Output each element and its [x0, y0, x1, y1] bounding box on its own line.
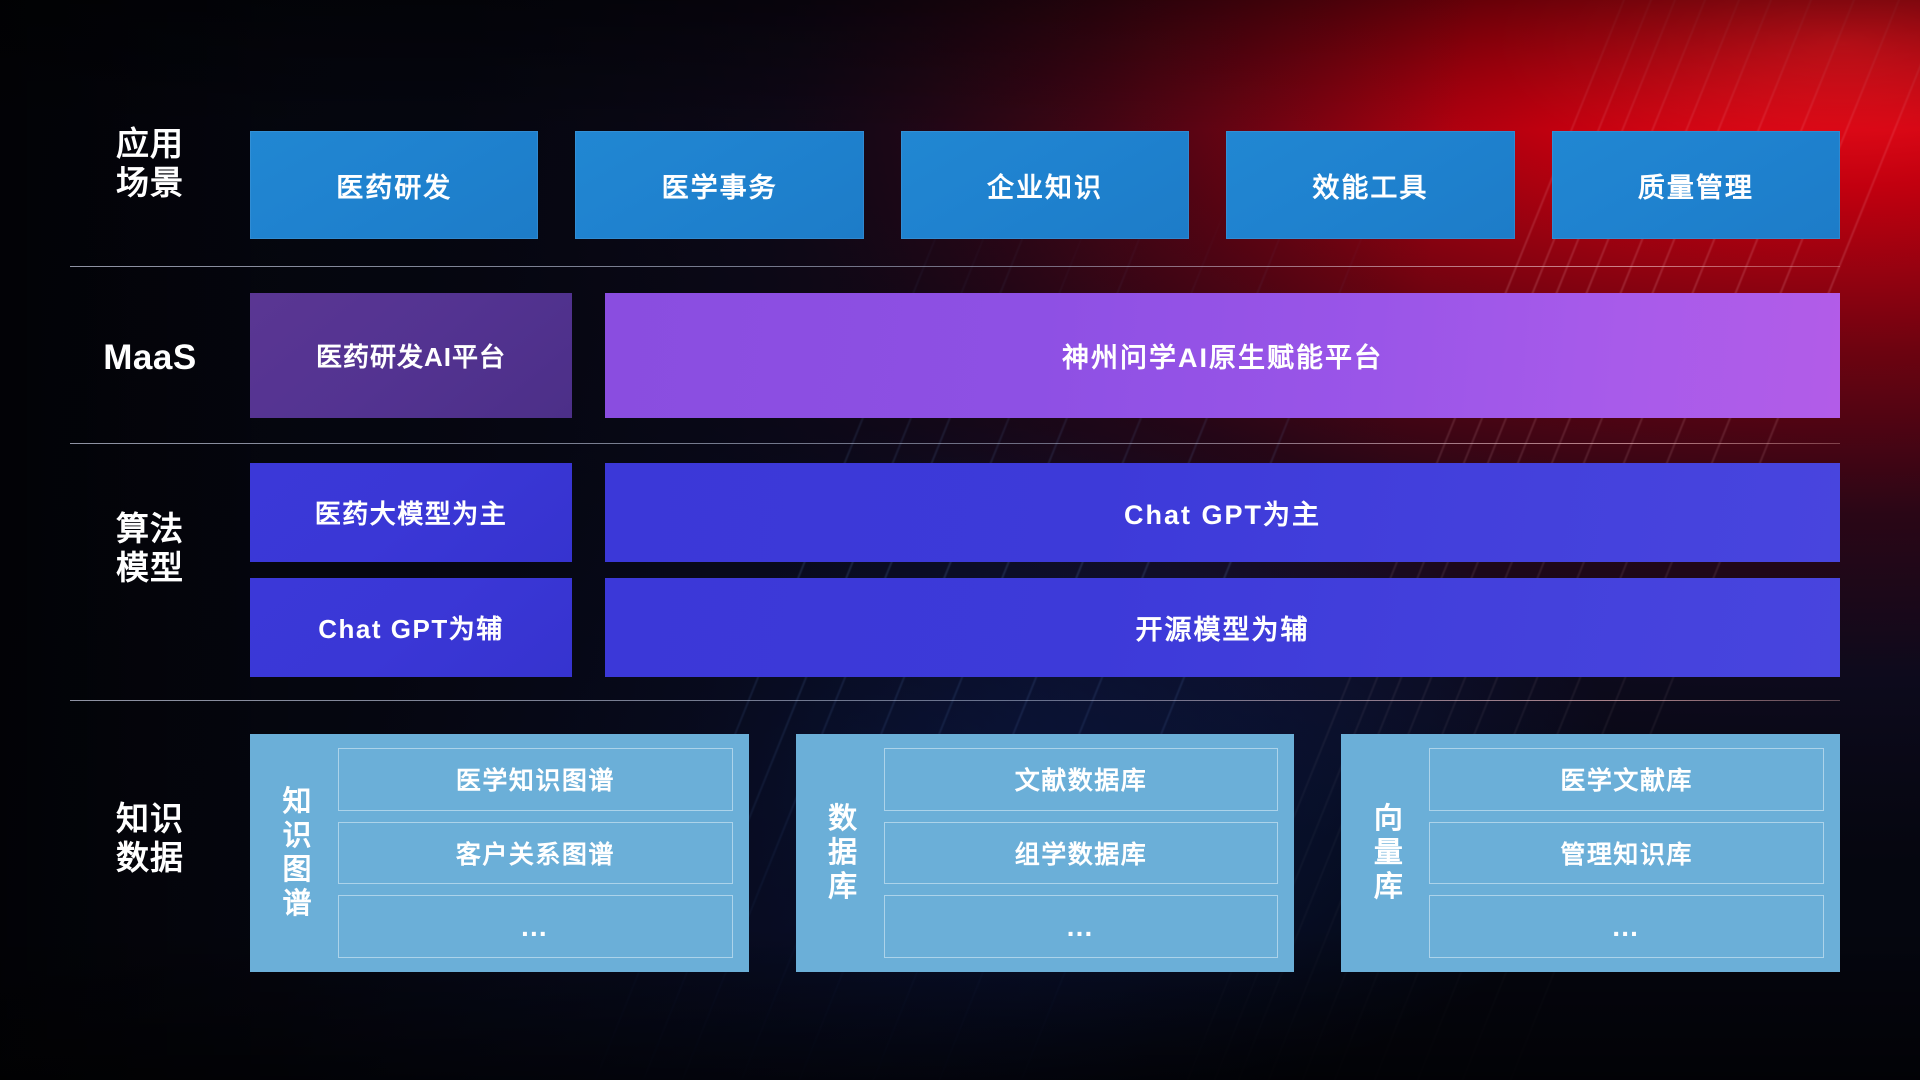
knowledge-card-database[interactable]: 数 据 库 文献数据库 组学数据库 …: [796, 734, 1295, 972]
vlabel-char: 知: [282, 785, 311, 819]
app-card-quality-management[interactable]: 质量管理: [1552, 131, 1840, 239]
maas-card-shenzhou-wenxue-platform[interactable]: 神州问学AI原生赋能平台: [605, 293, 1840, 418]
row-label-line-2: 场景: [80, 164, 220, 203]
slide-canvas: 应用 场景 医药研发 医学事务 企业知识 效能工具 质量管理 MaaS 医药研发…: [0, 0, 1920, 1080]
algo-card-opensource-secondary[interactable]: 开源模型为辅: [605, 578, 1840, 677]
app-card-medical-affairs[interactable]: 医学事务: [575, 131, 863, 239]
knowledge-data-cards: 知 识 图 谱 医学知识图谱 客户关系图谱 … 数 据 库 文: [250, 734, 1840, 972]
knowledge-card-items: 医学知识图谱 客户关系图谱 …: [330, 748, 733, 958]
app-card-efficiency-tools[interactable]: 效能工具: [1226, 131, 1514, 239]
knowledge-item-management-knowledge-store[interactable]: 管理知识库: [1429, 822, 1824, 885]
vlabel-char: 数: [828, 802, 857, 836]
vlabel-char: 据: [828, 836, 857, 870]
algorithm-secondary-row: Chat GPT为辅 开源模型为辅: [250, 578, 1840, 677]
knowledge-item-more[interactable]: …: [338, 895, 733, 958]
vlabel-char: 识: [282, 819, 311, 853]
knowledge-card-items: 医学文献库 管理知识库 …: [1421, 748, 1824, 958]
vlabel-char: 库: [828, 870, 857, 904]
knowledge-item-more[interactable]: …: [884, 895, 1279, 958]
vlabel-char: 库: [1374, 870, 1403, 904]
algo-card-pharma-llm-primary[interactable]: 医药大模型为主: [250, 463, 572, 562]
knowledge-item-omics-database[interactable]: 组学数据库: [884, 822, 1279, 885]
knowledge-item-medical-knowledge-graph[interactable]: 医学知识图谱: [338, 748, 733, 811]
maas-cards: 医药研发AI平台 神州问学AI原生赋能平台: [250, 293, 1840, 418]
vlabel-char: 谱: [282, 887, 311, 921]
knowledge-card-vertical-label: 知 识 图 谱: [264, 748, 330, 958]
algo-card-chatgpt-primary[interactable]: Chat GPT为主: [605, 463, 1840, 562]
row-label-maas-text: MaaS: [80, 337, 220, 378]
row-label-line-2: 模型: [80, 549, 220, 588]
app-card-drug-rd[interactable]: 医药研发: [250, 131, 538, 239]
knowledge-item-literature-database[interactable]: 文献数据库: [884, 748, 1279, 811]
vlabel-char: 向: [1374, 802, 1403, 836]
row-label-maas: MaaS: [80, 337, 220, 378]
row-label-line-1: 应用: [80, 125, 220, 164]
row-label-application-scenarios: 应用 场景: [80, 125, 220, 203]
maas-card-drug-rd-ai-platform[interactable]: 医药研发AI平台: [250, 293, 572, 418]
knowledge-item-more[interactable]: …: [1429, 895, 1824, 958]
application-scenario-cards: 医药研发 医学事务 企业知识 效能工具 质量管理: [250, 131, 1840, 239]
knowledge-card-items: 文献数据库 组学数据库 …: [876, 748, 1279, 958]
divider-after-algorithm-row: [70, 700, 1840, 701]
row-label-algorithm-models: 算法 模型: [80, 510, 220, 588]
knowledge-card-vector-store[interactable]: 向 量 库 医学文献库 管理知识库 …: [1341, 734, 1840, 972]
row-label-line-2: 数据: [80, 839, 220, 878]
knowledge-item-medical-literature-store[interactable]: 医学文献库: [1429, 748, 1824, 811]
capability-stack-diagram: 应用 场景 医药研发 医学事务 企业知识 效能工具 质量管理 MaaS 医药研发…: [0, 0, 1920, 1080]
algorithm-primary-row: 医药大模型为主 Chat GPT为主: [250, 463, 1840, 562]
row-label-line-1: 算法: [80, 510, 220, 549]
row-label-line-1: 知识: [80, 800, 220, 839]
app-card-enterprise-knowledge[interactable]: 企业知识: [901, 131, 1189, 239]
knowledge-card-knowledge-graph[interactable]: 知 识 图 谱 医学知识图谱 客户关系图谱 …: [250, 734, 749, 972]
divider-after-application-row: [70, 266, 1840, 267]
vlabel-char: 图: [282, 853, 311, 887]
divider-after-maas-row: [70, 443, 1840, 444]
knowledge-card-vertical-label: 向 量 库: [1355, 748, 1421, 958]
knowledge-card-vertical-label: 数 据 库: [810, 748, 876, 958]
knowledge-item-customer-relation-graph[interactable]: 客户关系图谱: [338, 822, 733, 885]
vlabel-char: 量: [1374, 836, 1403, 870]
algo-card-chatgpt-secondary[interactable]: Chat GPT为辅: [250, 578, 572, 677]
row-label-knowledge-data: 知识 数据: [80, 800, 220, 878]
